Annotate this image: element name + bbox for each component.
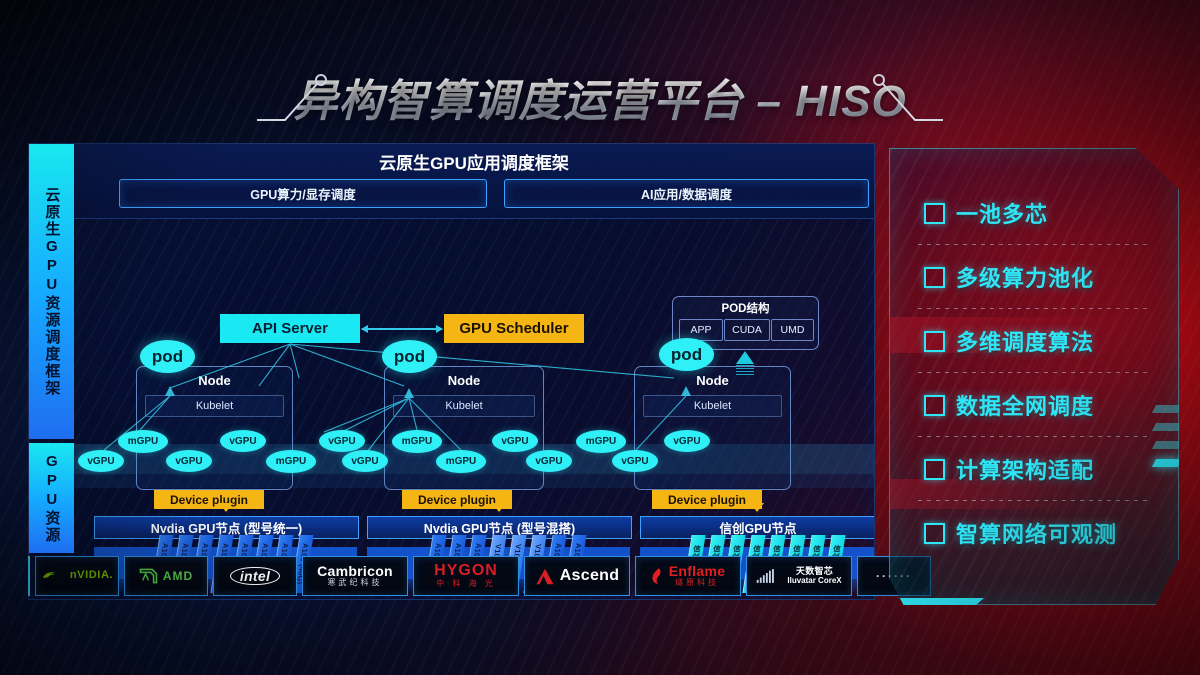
device-plugin-down-arrow-icon xyxy=(219,503,233,512)
vendor-logo-enflame[interactable]: Enflame燧原科技 xyxy=(635,556,741,596)
checkbox-square-icon xyxy=(924,523,945,544)
scheduling-diagram: API Server GPU Scheduler POD结构 APP CUDA … xyxy=(74,218,874,513)
kubelet-box: Kubelet xyxy=(393,395,535,417)
vendor-name: AMD xyxy=(163,570,193,583)
vendor-logos: nVIDIA.AMDintelCambricon寒武纪科技HYGON中 科 海 … xyxy=(35,556,931,596)
api-scheduler-connector xyxy=(362,328,442,330)
checkbox-square-icon xyxy=(924,267,945,288)
vendor-name: Cambricon xyxy=(317,564,393,579)
device-plugin-down-arrow-icon xyxy=(750,503,764,512)
enflame-logo-icon xyxy=(651,567,664,585)
pod-cell-umd: UMD xyxy=(771,319,814,341)
mgpu-chip[interactable]: mGPU xyxy=(436,450,486,473)
pod-cell-cuda: CUDA xyxy=(724,319,770,341)
iluvatar-logo-icon xyxy=(756,568,782,584)
slide-title-bar: 异构智算调度运营平台 – HISO xyxy=(0,62,1200,132)
gpu-scheduler-box[interactable]: GPU Scheduler xyxy=(444,314,584,343)
vendor-name: Enflame xyxy=(669,564,726,579)
vendor-logo-amd[interactable]: AMD xyxy=(124,556,208,596)
device-plugin-down-arrow-icon xyxy=(492,503,506,512)
pod-bubble-1[interactable]: pod xyxy=(140,340,195,373)
vgpu-chip[interactable]: vGPU xyxy=(220,430,266,452)
feature-label: 数据全网调度 xyxy=(956,389,1094,421)
vendor-subname: 中 科 海 光 xyxy=(434,580,498,588)
mgpu-chip[interactable]: mGPU xyxy=(118,430,168,453)
api-server-box[interactable]: API Server xyxy=(220,314,360,343)
vendor-name: nVIDIA. xyxy=(70,570,113,582)
vgpu-chip[interactable]: vGPU xyxy=(612,450,658,472)
vendor-name: Ascend xyxy=(560,568,620,585)
architecture-panel: 云原生GPU资源调度框架 GPU资源 云原生GPU应用调度框架 GPU算力/显存… xyxy=(28,143,875,600)
feature-item-2[interactable]: 多级算力池化 xyxy=(890,245,1178,309)
vgpu-chip[interactable]: vGPU xyxy=(78,450,124,472)
vendor-logo-cambricon[interactable]: Cambricon寒武纪科技 xyxy=(302,556,408,596)
framework-header-band: 云原生GPU应用调度框架 GPU算力/显存调度 AI应用/数据调度 xyxy=(74,144,874,219)
vendor-row-label-line2: /ASIC xyxy=(28,576,30,590)
feature-label: 计算架构适配 xyxy=(956,453,1094,485)
device-plugin-3[interactable]: Device plugin xyxy=(652,490,762,509)
feature-label: 多维调度算法 xyxy=(956,325,1094,357)
vendor-logo-ascend[interactable]: Ascend xyxy=(524,556,630,596)
vendor-name: intel xyxy=(230,567,280,586)
node-label: Node xyxy=(635,373,790,388)
kubelet-box: Kubelet xyxy=(145,395,284,417)
slide-canvas: 异构智算调度运营平台 – HISO 云原生GPU资源调度框架 GPU资源 云原生… xyxy=(0,0,1200,675)
sidebar-tab-gpu-resource[interactable]: GPU资源 xyxy=(29,443,74,553)
kubelet-box: Kubelet xyxy=(643,395,782,417)
features-panel: 一池多芯多级算力池化多维调度算法数据全网调度计算架构适配智算网络可观测 xyxy=(889,148,1179,605)
sidebar-tab-framework[interactable]: 云原生GPU资源调度框架 xyxy=(29,144,74,439)
sidebar-tab-framework-label: 云原生GPU资源调度框架 xyxy=(43,187,61,397)
mgpu-chip[interactable]: mGPU xyxy=(576,430,626,453)
vgpu-chip[interactable]: vGPU xyxy=(319,430,365,452)
feature-label: 智算网络可观测 xyxy=(956,517,1117,549)
vendor-subname: 寒武纪科技 xyxy=(317,579,393,587)
node-box-3: Node Kubelet xyxy=(634,366,791,490)
feature-item-1[interactable]: 一池多芯 xyxy=(890,181,1178,245)
node-label: Node xyxy=(385,373,543,388)
vendor-logo-iluvatar[interactable]: 天数智芯Iluvatar CoreX xyxy=(746,556,852,596)
mgpu-chip[interactable]: mGPU xyxy=(266,450,316,473)
pod-bubble-3[interactable]: pod xyxy=(659,338,714,371)
vendor-logo-row: GPU/FPGA /ASIC nVIDIA.AMDintelCambricon寒… xyxy=(28,556,873,596)
nvidia-logo-icon xyxy=(41,569,65,583)
vendor-row-label-line1: GPU/FPGA xyxy=(28,562,30,576)
feature-label: 一池多芯 xyxy=(956,197,1048,229)
vgpu-chip[interactable]: vGPU xyxy=(526,450,572,472)
vendor-subname: 燧原科技 xyxy=(669,579,726,587)
checkbox-square-icon xyxy=(924,395,945,416)
pod-structure-title: POD结构 xyxy=(673,300,818,316)
vgpu-chip[interactable]: vGPU xyxy=(166,450,212,472)
vendor-logo-nvidia[interactable]: nVIDIA. xyxy=(35,556,119,596)
vendor-logo-hygon[interactable]: HYGON中 科 海 光 xyxy=(413,556,519,596)
feature-item-5[interactable]: 计算架构适配 xyxy=(890,437,1178,501)
pod-bubble-2[interactable]: pod xyxy=(382,340,437,373)
vendor-row-label: GPU/FPGA /ASIC xyxy=(28,556,30,596)
page-title: 异构智算调度运营平台 – HISO xyxy=(293,65,907,129)
feature-label: 多级算力池化 xyxy=(956,261,1094,293)
checkbox-square-icon xyxy=(924,459,945,480)
device-plugin-1[interactable]: Device plugin xyxy=(154,490,264,509)
node-label: Node xyxy=(137,373,292,388)
node-box-1: Node Kubelet xyxy=(136,366,293,490)
sidebar-tab-gpu-resource-label: GPU资源 xyxy=(43,453,61,544)
vgpu-chip[interactable]: vGPU xyxy=(664,430,710,452)
amd-logo-icon xyxy=(139,568,158,584)
vgpu-chip[interactable]: vGPU xyxy=(492,430,538,452)
framework-title: 云原生GPU应用调度框架 xyxy=(74,149,874,174)
vendor-subname: Iluvatar CoreX xyxy=(787,577,841,585)
mgpu-chip[interactable]: mGPU xyxy=(392,430,442,453)
checkbox-square-icon xyxy=(924,203,945,224)
pod-structure-arrow-icon xyxy=(736,351,754,364)
vgpu-chip[interactable]: vGPU xyxy=(342,450,388,472)
vendor-logo-intel[interactable]: intel xyxy=(213,556,297,596)
checkbox-square-icon xyxy=(924,331,945,352)
vendor-name: HYGON xyxy=(434,563,498,580)
bottom-left-accent xyxy=(900,598,984,607)
feature-item-6[interactable]: 智算网络可观测 xyxy=(890,501,1178,565)
ascend-logo-icon xyxy=(535,567,555,586)
feature-list: 一池多芯多级算力池化多维调度算法数据全网调度计算架构适配智算网络可观测 xyxy=(890,181,1178,565)
pill-ai-data-scheduling[interactable]: AI应用/数据调度 xyxy=(504,179,869,208)
feature-item-4[interactable]: 数据全网调度 xyxy=(890,373,1178,437)
feature-item-3[interactable]: 多维调度算法 xyxy=(890,309,1178,373)
title-left-decoration-icon xyxy=(255,62,375,132)
title-right-decoration-icon xyxy=(825,62,945,132)
pill-gpu-compute-scheduling[interactable]: GPU算力/显存调度 xyxy=(119,179,487,208)
